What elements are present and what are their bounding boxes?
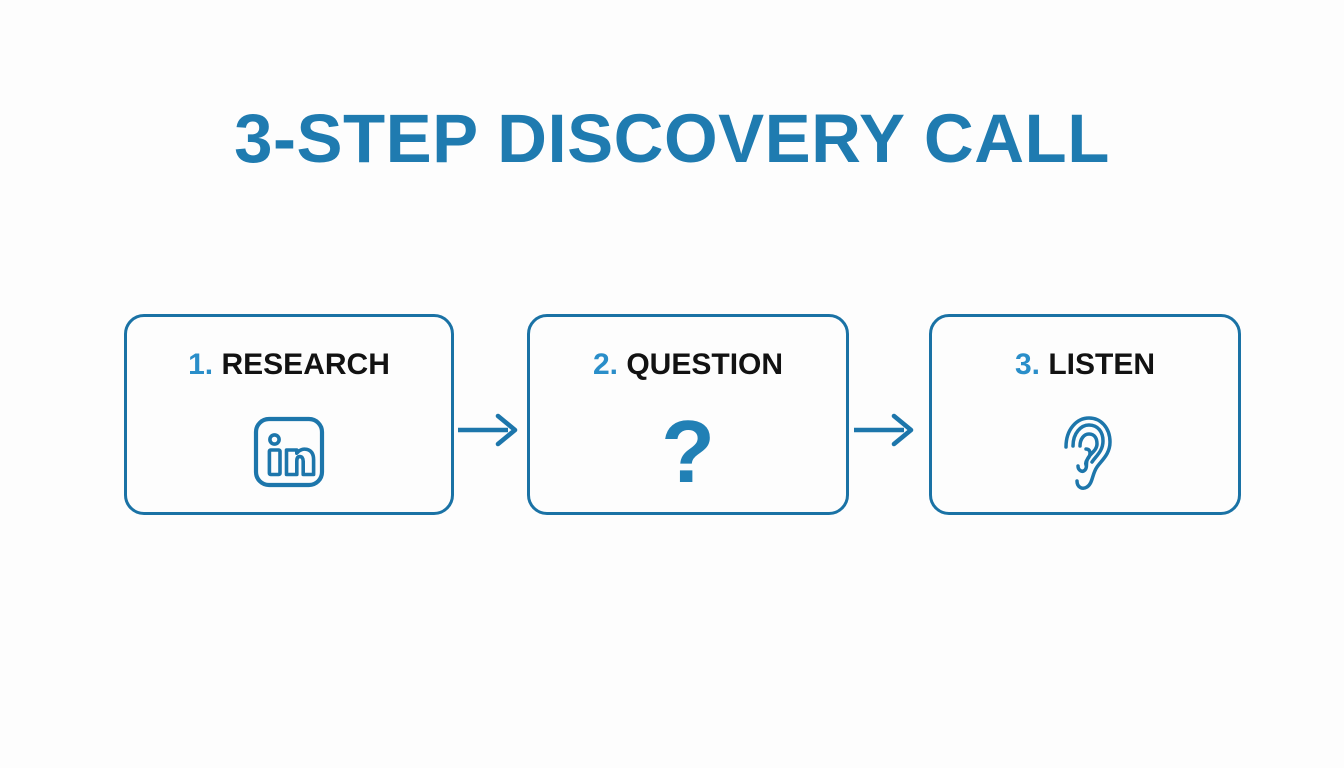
step-title-1 <box>213 348 221 381</box>
step-card-research[interactable]: 1. RESEARCH <box>124 314 454 515</box>
step-number-3: 3. <box>1015 348 1040 381</box>
three-step-flow-diagram: 1. RESEARCH <box>0 314 1344 519</box>
step-number-2: 2. <box>593 348 618 381</box>
step-number-1: 1. <box>188 348 213 381</box>
step-card-question[interactable]: 2. QUESTION ? <box>527 314 849 515</box>
step-icon-slot-1 <box>127 409 451 495</box>
arrow-right-icon <box>854 413 920 447</box>
slide-canvas: 3-STEP DISCOVERY CALL 1. RESEARCH <box>0 0 1344 768</box>
linkedin-icon <box>253 415 325 489</box>
step-card-listen[interactable]: 3. LISTEN <box>929 314 1241 515</box>
step-label-question: 2. QUESTION <box>530 350 846 380</box>
step-name-research: RESEARCH <box>222 348 390 381</box>
step-label-listen: 3. LISTEN <box>932 350 1238 380</box>
step-name-question: QUESTION <box>626 348 783 381</box>
step-icon-slot-3 <box>932 409 1238 495</box>
arrow-right-icon <box>458 413 522 447</box>
page-title: 3-STEP DISCOVERY CALL <box>0 104 1344 173</box>
connector-arrow-1 <box>458 413 522 452</box>
step-icon-slot-2: ? <box>530 409 846 495</box>
connector-arrow-2 <box>854 413 920 452</box>
step-name-listen: LISTEN <box>1048 348 1155 381</box>
ear-icon <box>1056 413 1114 491</box>
step-label-research: 1. RESEARCH <box>127 350 451 380</box>
question-mark-icon: ? <box>661 416 715 488</box>
